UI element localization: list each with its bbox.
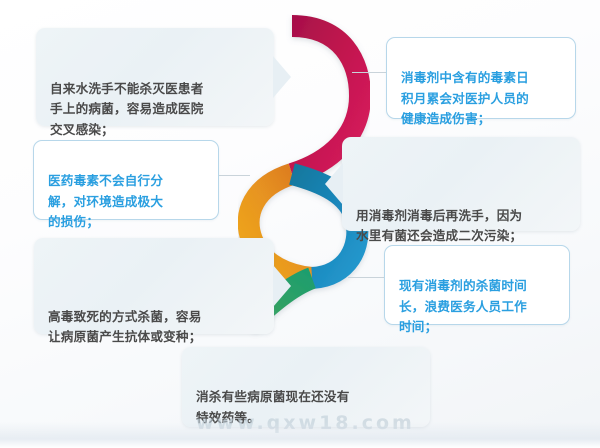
callout-text: 用消毒剂消毒后再洗手，因为 水里有菌还会造成二次污染； — [356, 188, 566, 247]
bubble-pointer-right-icon — [273, 265, 291, 307]
leader-line-1 — [352, 72, 386, 73]
callout-text: 现有消毒剂的杀菌时间 长，浪费医务人员工作 时间； — [399, 279, 527, 334]
callout-text: 自来水洗手不能杀灭医患者 手上的病菌，容易造成医院 交叉感染； — [50, 82, 204, 137]
bubble-pointer-right-icon — [273, 56, 291, 98]
infographic-canvas: 自来水洗手不能杀灭医患者 手上的病菌，容易造成医院 交叉感染； 消毒剂中含有的毒… — [0, 0, 600, 448]
watermark: www.qxw18.com — [196, 412, 415, 434]
leader-line-3 — [348, 277, 384, 278]
callout-tap-water-cross-infection[interactable]: 自来水洗手不能杀灭医患者 手上的病菌，容易造成医院 交叉感染； — [36, 28, 274, 126]
bubble-pointer-left-icon — [325, 163, 343, 205]
callout-text: 医药毒素不会自行分 解，对环境造成极大 的损伤； — [48, 174, 163, 229]
callout-long-kill-time-wastes-worktime[interactable]: 现有消毒剂的杀菌时间 长，浪费医务人员工作 时间； — [384, 245, 570, 325]
callout-drug-toxins-environment[interactable]: 医药毒素不会自行分 解，对环境造成极大 的损伤； — [33, 140, 219, 220]
callout-rewash-secondary-contamination[interactable]: 用消毒剂消毒后再洗手，因为 水里有菌还会造成二次污染； — [342, 137, 580, 231]
callout-text: 消毒剂中含有的毒素日 积月累会对医护人员的 健康造成伤害； — [401, 71, 529, 126]
callout-disinfectant-toxins-staff-health[interactable]: 消毒剂中含有的毒素日 积月累会对医护人员的 健康造成伤害； — [386, 37, 576, 119]
callout-text: 高毒致死的方式杀菌，容易 让病原菌产生抗体或变种； — [48, 289, 260, 348]
callout-high-toxicity-resistance[interactable]: 高毒致死的方式杀菌，容易 让病原菌产生抗体或变种； — [34, 238, 274, 334]
leader-line-2 — [214, 175, 250, 176]
